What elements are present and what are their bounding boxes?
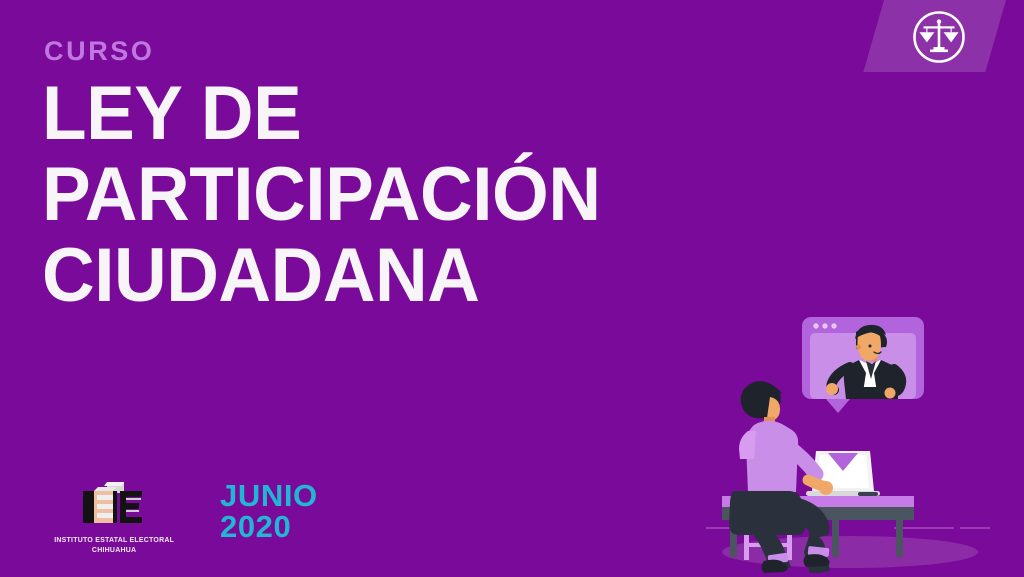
course-month: JUNIO	[220, 480, 318, 512]
video-call-window	[802, 317, 924, 413]
eyebrow-label: CURSO	[44, 38, 852, 65]
iee-state-name: CHIHUAHUA	[92, 545, 136, 555]
headline-block: CURSO LEY DE PARTICIPACIÓN CIUDADANA	[42, 38, 852, 314]
course-date: JUNIO 2020	[220, 480, 318, 555]
course-promo-slide: CURSO LEY DE PARTICIPACIÓN CIUDADANA	[0, 0, 1024, 577]
page-title-line-3: CIUDADANA	[42, 239, 820, 314]
page-title-line-2: PARTICIPACIÓN	[42, 158, 820, 233]
page-title-line-1: LEY DE	[42, 77, 820, 152]
iee-institution-name: INSTITUTO ESTATAL ELECTORAL	[54, 535, 174, 545]
iee-ballot-box-logo-icon	[77, 481, 151, 531]
course-year: 2020	[220, 511, 318, 543]
scales-of-justice-icon	[908, 6, 970, 68]
iee-logo: INSTITUTO ESTATAL ELECTORAL CHIHUAHUA	[44, 481, 184, 556]
online-class-illustration	[698, 305, 1016, 573]
footer: INSTITUTO ESTATAL ELECTORAL CHIHUAHUA JU…	[44, 480, 318, 555]
